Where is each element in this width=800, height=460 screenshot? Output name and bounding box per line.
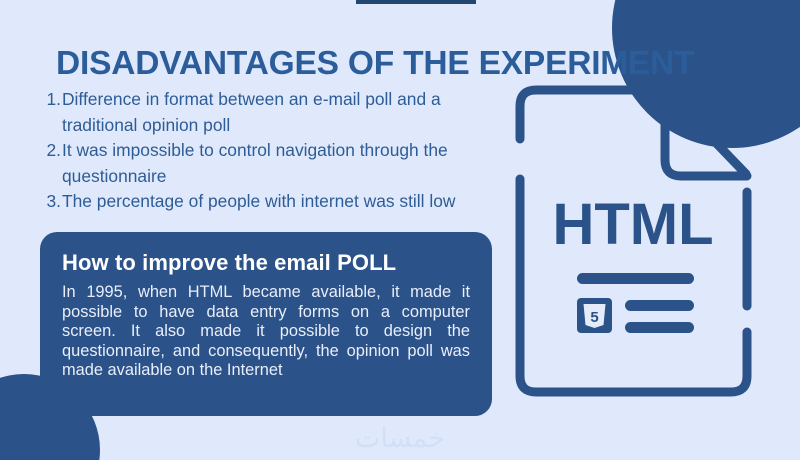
list-item-number: 2.	[44, 138, 62, 164]
list-item: 2. It was impossible to control navigati…	[44, 138, 514, 189]
doc-line-1	[577, 273, 694, 284]
decorative-top-bar	[356, 0, 476, 4]
doc-line-2	[625, 300, 694, 311]
improvement-card-title: How to improve the email POLL	[62, 248, 470, 278]
disadvantages-list: 1. Difference in format between an e-mai…	[44, 87, 514, 215]
page-title: DISADVANTAGES OF THE EXPERIMENT	[56, 45, 736, 83]
list-item-number: 1.	[44, 87, 62, 113]
html-icon-label: HTML	[552, 192, 713, 257]
list-item: 1. Difference in format between an e-mai…	[44, 87, 514, 138]
list-item-label: The percentage of people with internet w…	[62, 189, 514, 215]
html-document-icon: HTML 5	[515, 84, 783, 404]
watermark: خمسات	[0, 423, 800, 454]
html5-badge-label: 5	[590, 309, 598, 326]
list-item-label: Difference in format between an e-mail p…	[62, 87, 514, 138]
improvement-card: How to improve the email POLL In 1995, w…	[40, 232, 492, 416]
list-item-number: 3.	[44, 189, 62, 215]
improvement-card-body: In 1995, when HTML became available, it …	[62, 283, 470, 381]
infographic-slide: DISADVANTAGES OF THE EXPERIMENT 1. Diffe…	[0, 0, 800, 460]
list-item-label: It was impossible to control navigation …	[62, 138, 514, 189]
doc-line-3	[625, 322, 694, 333]
list-item: 3. The percentage of people with interne…	[44, 189, 514, 215]
